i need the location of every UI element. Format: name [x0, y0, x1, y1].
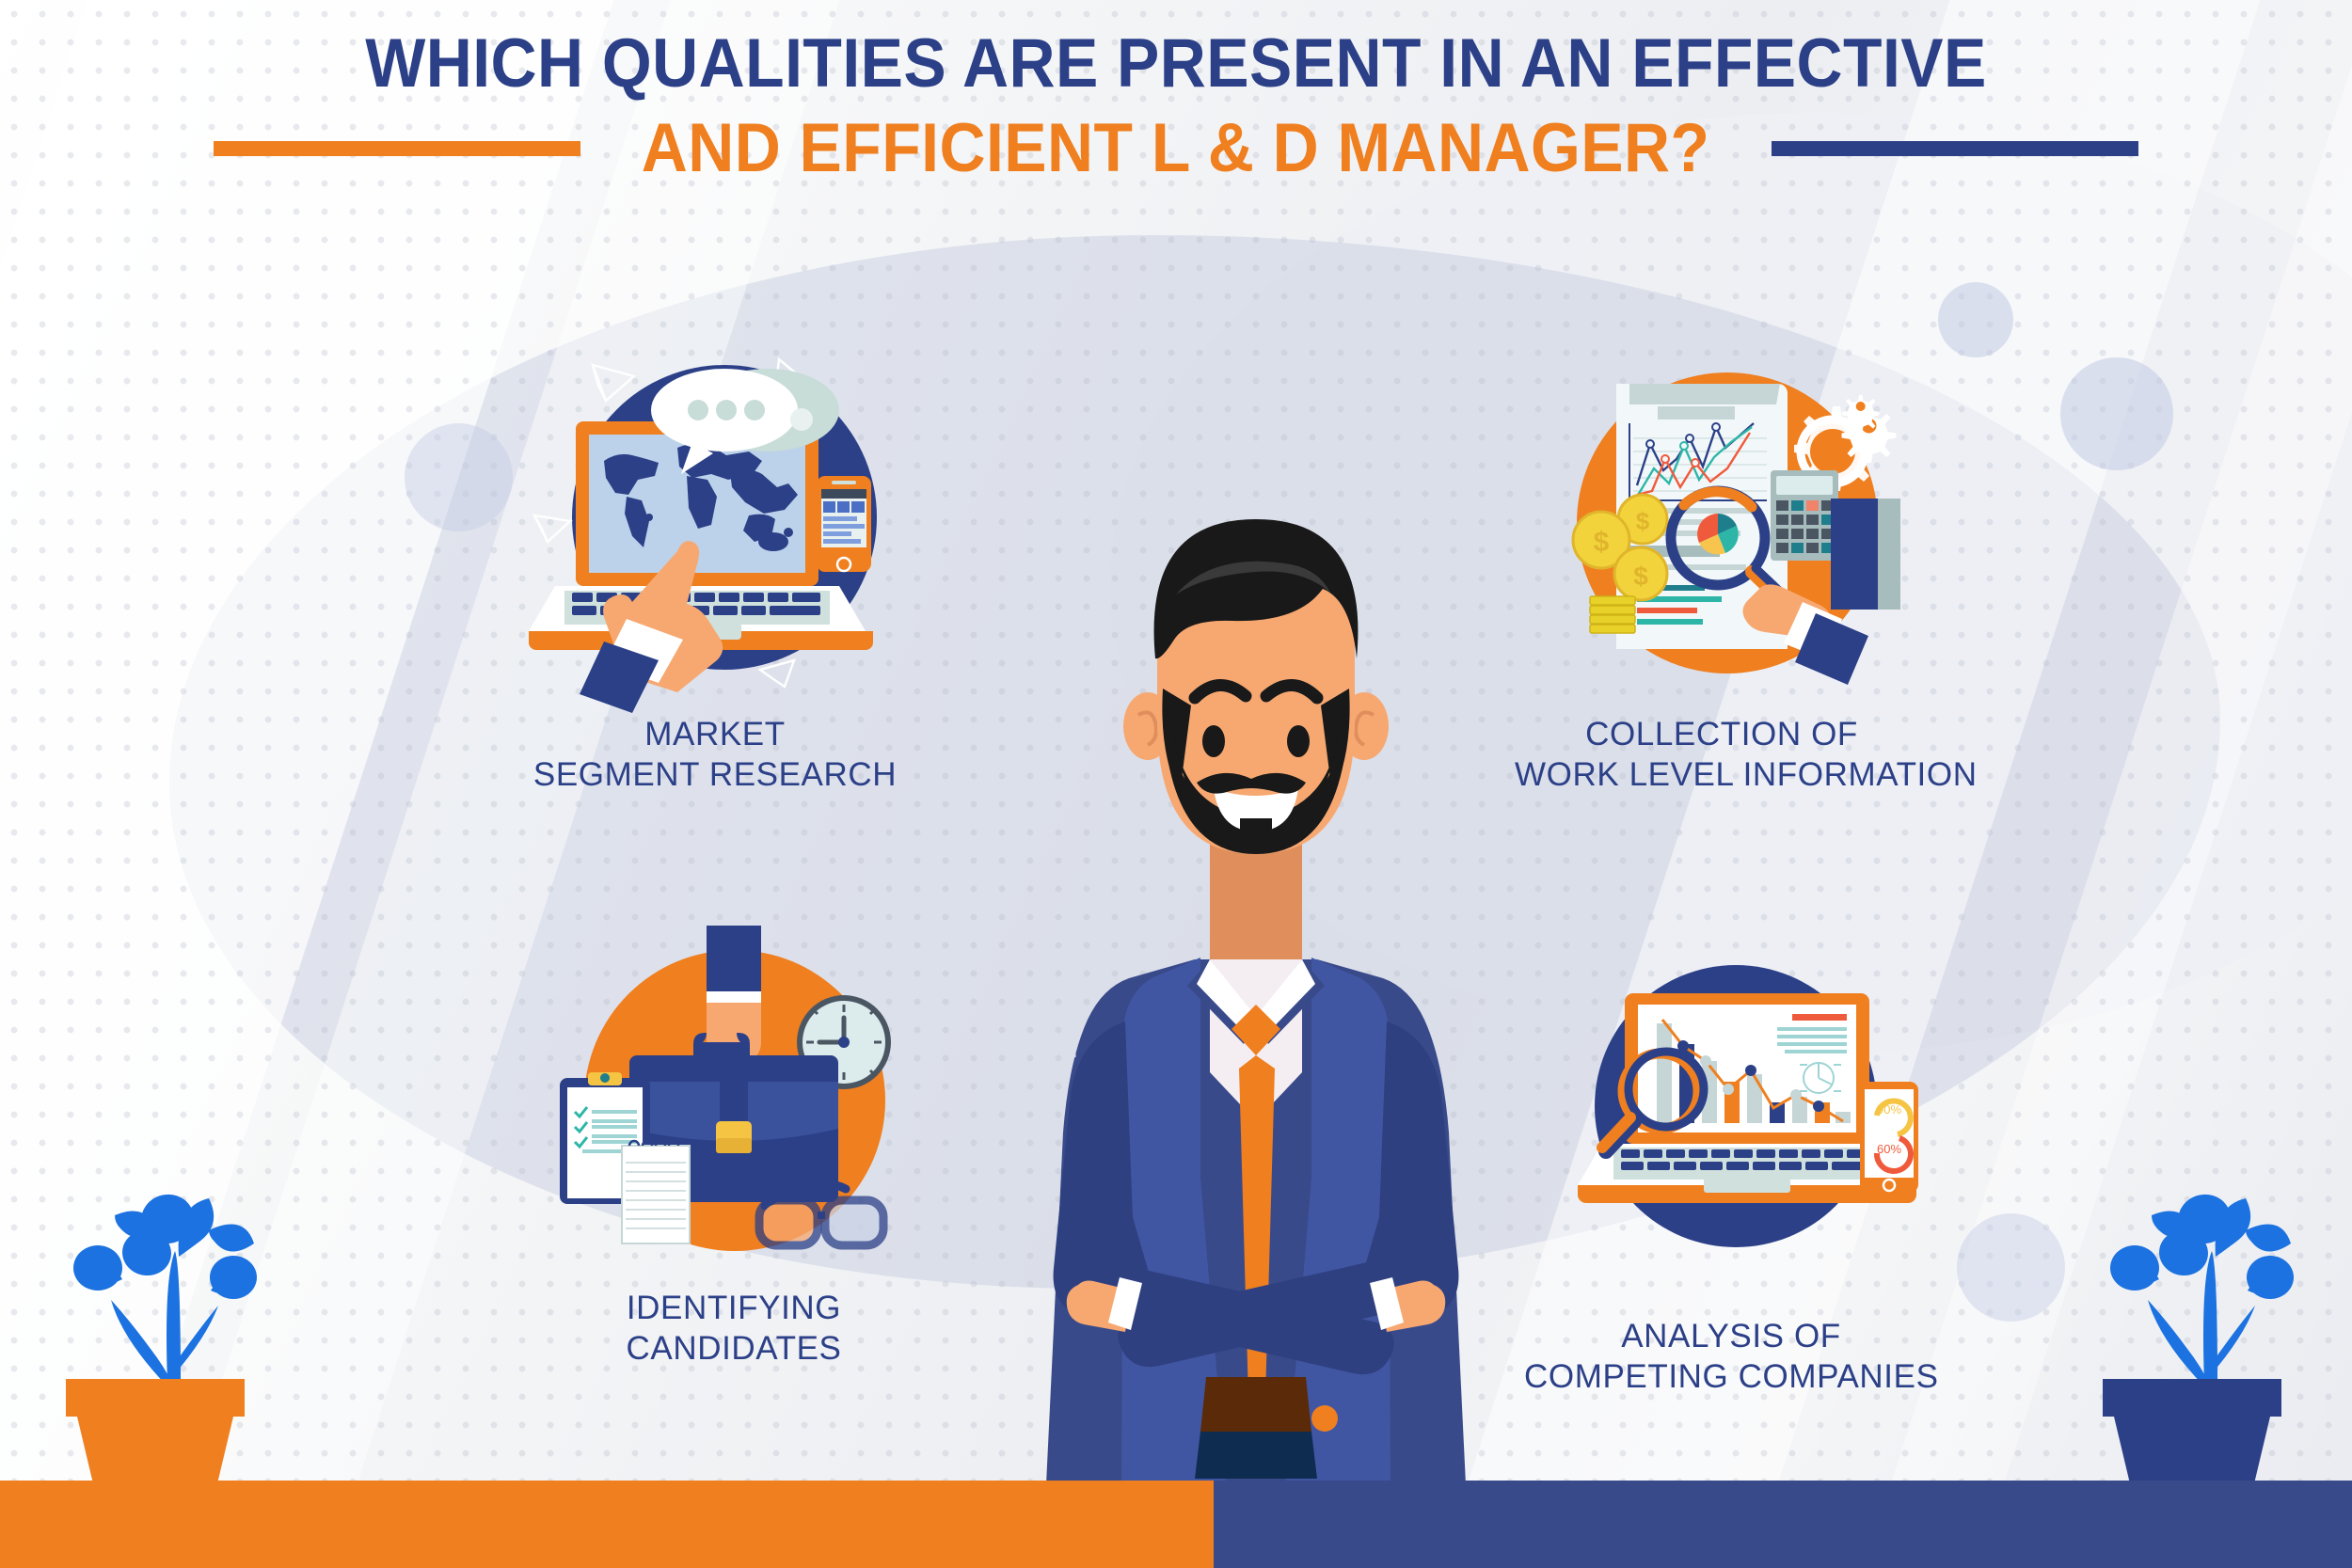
- background-circle-2: [2060, 357, 2173, 470]
- item-collection-of-work-level-information[interactable]: $ $ $: [1515, 348, 1929, 795]
- page-title-row-2: AND EFFICIENT L & D MANAGER?: [0, 113, 2352, 184]
- item-label-line-2: COMPETING COMPANIES: [1524, 1357, 1938, 1398]
- item-label-line-2: WORK LEVEL INFORMATION: [1515, 755, 1929, 796]
- briefcase-clock-clipboard-icon: [550, 912, 917, 1279]
- item-label: COLLECTION OF WORK LEVEL INFORMATION: [1515, 715, 1929, 795]
- svg-text:$: $: [1633, 562, 1648, 591]
- item-label-line-1: MARKET: [508, 715, 922, 755]
- background-circle-1: [1938, 282, 2013, 357]
- header: WHICH QUALITIES ARE PRESENT IN AN EFFECT…: [0, 28, 2352, 184]
- item-label-line-1: COLLECTION OF: [1515, 715, 1929, 755]
- page-title-line-1: WHICH QUALITIES ARE PRESENT IN AN EFFECT…: [83, 28, 2270, 100]
- laptop-world-map-icon: [536, 348, 894, 705]
- item-label-line-1: IDENTIFYING: [527, 1289, 941, 1329]
- infographic-canvas: WHICH QUALITIES ARE PRESENT IN AN EFFECT…: [0, 0, 2352, 1568]
- report-magnifier-calculator-icon: $ $ $: [1543, 348, 1900, 705]
- potted-plant-left: [28, 1082, 339, 1496]
- item-label: ANALYSIS OF COMPETING COMPANIES: [1524, 1317, 1938, 1397]
- item-market-segment-research[interactable]: MARKET SEGMENT RESEARCH: [508, 348, 922, 795]
- laptop-bar-chart-magnifier-icon: 90% 60%: [1548, 941, 1915, 1307]
- gauge-high-value: 90%: [1877, 1102, 1901, 1117]
- page-title-line-2: AND EFFICIENT L & D MANAGER?: [642, 113, 1710, 184]
- item-label: IDENTIFYING CANDIDATES: [527, 1289, 941, 1369]
- item-analysis-of-competing-companies[interactable]: 90% 60% ANALYSIS OF COMPETING COMPANIES: [1524, 941, 1938, 1397]
- item-label-line-1: ANALYSIS OF: [1524, 1317, 1938, 1357]
- potted-plant-right: [2065, 1082, 2352, 1496]
- gauge-low-value: 60%: [1877, 1142, 1901, 1156]
- item-label-line-2: SEGMENT RESEARCH: [508, 755, 922, 796]
- item-label-line-2: CANDIDATES: [527, 1329, 941, 1370]
- svg-text:$: $: [1594, 527, 1610, 558]
- floor-bar: [0, 1481, 2352, 1568]
- title-rule-right: [1772, 141, 2138, 156]
- svg-text:$: $: [1636, 507, 1650, 535]
- background-circle-4: [1957, 1213, 2065, 1322]
- businessman-illustration: [988, 489, 1524, 1524]
- background-circle-3: [405, 423, 513, 531]
- floor-bar-orange: [0, 1481, 1214, 1568]
- item-identifying-candidates[interactable]: IDENTIFYING CANDIDATES: [527, 912, 941, 1369]
- title-rule-left: [214, 141, 580, 156]
- item-label: MARKET SEGMENT RESEARCH: [508, 715, 922, 795]
- floor-bar-blue: [1214, 1481, 2352, 1568]
